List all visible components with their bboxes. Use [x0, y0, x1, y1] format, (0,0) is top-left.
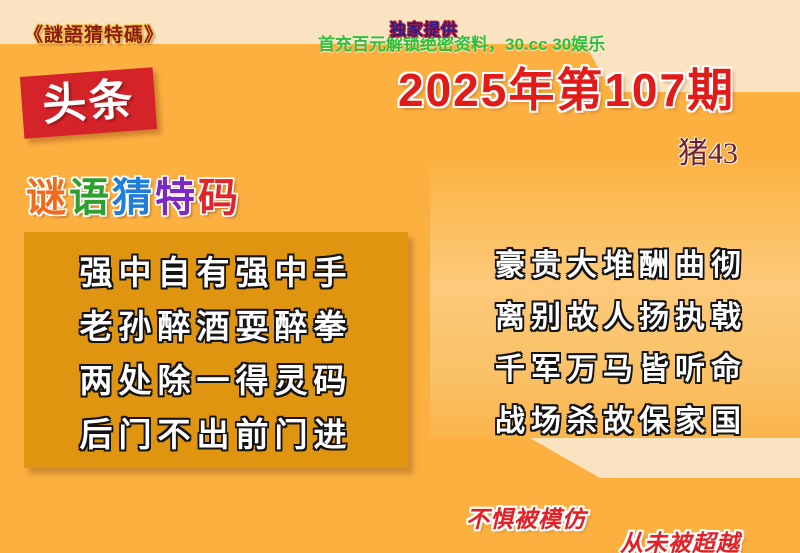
riddle-line: 两处除一得灵码	[40, 354, 392, 408]
headline-badge: 头条	[20, 67, 157, 139]
exclusive-badge-text: 独家提供	[390, 16, 458, 40]
issue-title: 2025年第107期	[398, 54, 735, 120]
zodiac-number: 猪43	[678, 128, 738, 172]
poem-line: 千军万马皆听命	[448, 344, 794, 396]
poem-line: 离别故人扬执戟	[448, 292, 794, 344]
headline-badge-label: 头条	[41, 78, 136, 129]
slogan-left: 不惧被模仿	[466, 500, 586, 534]
riddle-box: 强中自有强中手老孙醉酒耍醉拳两处除一得灵码后门不出前门进	[24, 232, 408, 468]
poem-line: 战场杀故保家国	[448, 396, 794, 448]
poem-line: 豪贵大堆酬曲彻	[448, 240, 794, 292]
rainbow-title-char-4: 码	[198, 176, 241, 220]
poem-block: 豪贵大堆酬曲彻离别故人扬执戟千军万马皆听命战场杀故保家国	[448, 240, 794, 448]
promo-text: 首充百元解锁绝密资料，30.cc 30娱乐	[318, 30, 605, 55]
rainbow-title-char-2: 猜	[112, 176, 155, 220]
riddle-line: 后门不出前门进	[40, 408, 392, 462]
rainbow-title-char-0: 谜	[26, 176, 69, 220]
poster-canvas: 《謎語猜特碼》 独家提供 首充百元解锁绝密资料，30.cc 30娱乐 2025年…	[0, 0, 800, 553]
slogan-right: 从未被超越	[620, 524, 740, 553]
rainbow-title-char-1: 语	[69, 176, 112, 220]
rainbow-title-char-3: 特	[155, 176, 198, 220]
traditional-title: 《謎語猜特碼》	[24, 20, 164, 47]
rainbow-title: 谜语猜特码	[26, 178, 241, 218]
riddle-line: 老孙醉酒耍醉拳	[40, 300, 392, 354]
riddle-line: 强中自有强中手	[40, 246, 392, 300]
